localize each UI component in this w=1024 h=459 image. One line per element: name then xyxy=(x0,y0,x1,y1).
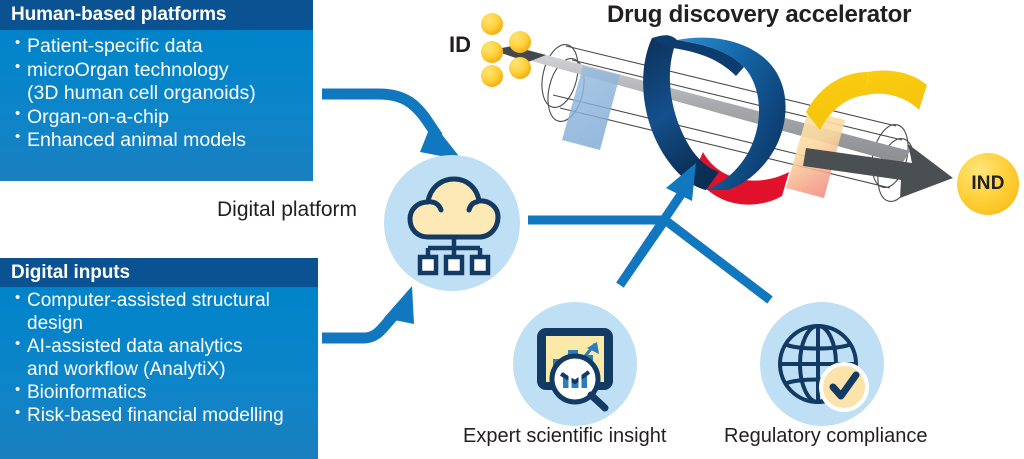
inner-blue-band xyxy=(562,66,620,150)
output-arrow xyxy=(803,144,953,198)
human-platforms-box: Human-based platforms Patient-specific d… xyxy=(0,0,313,181)
input-marker-label: ID xyxy=(449,32,471,58)
digital-inputs-box: Digital inputs Computer-assisted structu… xyxy=(0,258,318,459)
ribbon-blue-top-edge xyxy=(652,35,744,76)
list-item: microOrgan technology xyxy=(11,59,313,82)
diagram-canvas: Human-based platforms Patient-specific d… xyxy=(0,0,1024,459)
digital-inputs-list: Computer-assisted structural design AI-a… xyxy=(11,290,318,427)
list-item-cont: and workflow (AnalytiX) xyxy=(11,359,318,381)
human-platforms-body: Patient-specific data microOrgan technol… xyxy=(0,30,313,181)
molecule-dot xyxy=(509,31,531,53)
arrow-digital-to-cloud xyxy=(322,306,402,338)
inner-yellow-band xyxy=(786,111,845,198)
ribbon-yellow-main xyxy=(806,72,868,130)
arrow-junction-to-tube-head xyxy=(666,163,696,201)
line-expert-to-junction xyxy=(620,220,665,285)
output-marker-label: IND xyxy=(971,173,1004,195)
cloud-network-icon xyxy=(384,155,520,291)
chart-magnifier-icon xyxy=(513,302,637,426)
digital-inputs-body: Computer-assisted structural design AI-a… xyxy=(0,287,318,459)
line-regulatory-to-junction xyxy=(665,220,770,300)
list-item: Risk-based financial modelling xyxy=(11,405,318,427)
list-item-cont: design xyxy=(11,313,318,335)
page-title: Drug discovery accelerator xyxy=(607,1,911,29)
list-item-cont: (3D human cell organoids) xyxy=(11,82,313,105)
globe-check-icon xyxy=(760,302,884,426)
list-item: Enhanced animal models xyxy=(11,129,313,152)
expert-insight-label: Expert scientific insight xyxy=(463,425,666,448)
molecule-dot xyxy=(481,13,503,35)
expert-insight-badge[interactable] xyxy=(513,302,637,426)
arrow-junction-to-tube-shaft xyxy=(620,190,684,285)
ribbon-yellow xyxy=(866,71,927,110)
molecule-dot xyxy=(481,41,503,63)
list-item: AI-assisted data analytics xyxy=(11,336,318,358)
digital-platform-label: Digital platform xyxy=(217,198,357,222)
list-item: Patient-specific data xyxy=(11,35,313,58)
regulatory-compliance-badge[interactable] xyxy=(760,302,884,426)
molecule-dot xyxy=(509,57,531,79)
human-platforms-header: Human-based platforms xyxy=(0,0,313,30)
arrow-human-to-cloud xyxy=(322,94,438,137)
ribbon-blue-back xyxy=(643,38,719,190)
output-marker-badge: IND xyxy=(957,153,1019,215)
list-item: Bioinformatics xyxy=(11,382,318,404)
ribbon-blue-front xyxy=(677,38,786,190)
arrow-digital-to-cloud-head xyxy=(384,286,414,324)
list-item: Organ-on-a-chip xyxy=(11,106,313,129)
glass-cylinder xyxy=(536,41,920,205)
regulatory-compliance-label: Regulatory compliance xyxy=(724,425,927,448)
molecule-dot xyxy=(481,65,503,87)
digital-inputs-header: Digital inputs xyxy=(0,258,318,287)
digital-platform-badge[interactable] xyxy=(384,155,520,291)
human-platforms-list: Patient-specific data microOrgan technol… xyxy=(11,35,313,152)
ribbon-red-underside xyxy=(694,152,789,205)
central-shaft xyxy=(492,46,910,164)
list-item: Computer-assisted structural xyxy=(11,290,318,312)
